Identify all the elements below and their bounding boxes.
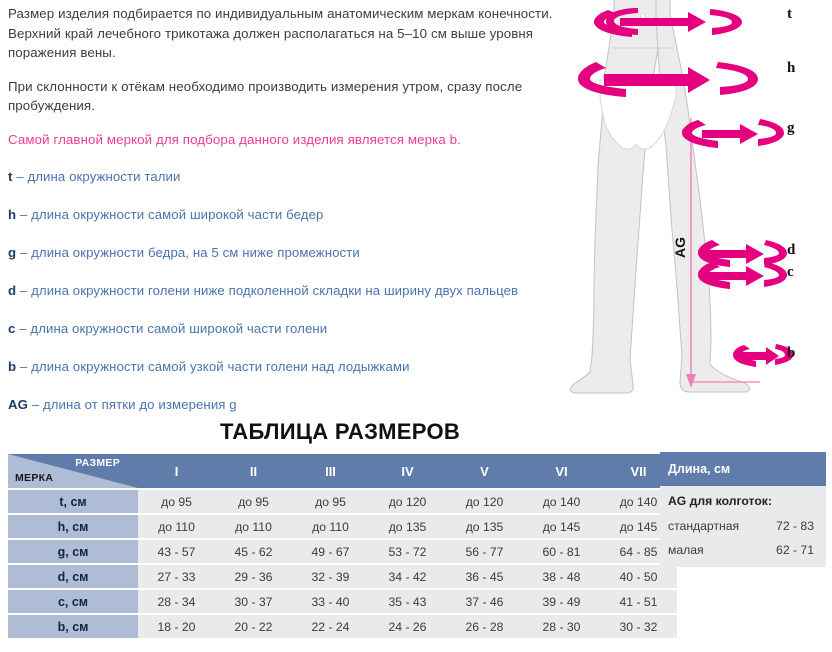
cell-d-1: 27 - 33 <box>138 565 215 588</box>
instructions-column: Размер изделия подбирается по индивидуал… <box>8 4 568 434</box>
table-row: g, см 43 - 57 45 - 62 49 - 67 53 - 72 56… <box>8 540 677 563</box>
cell-g-2: 45 - 62 <box>215 540 292 563</box>
row-label-b: b, см <box>8 615 138 638</box>
definition-g: g – длина окружности бедра, на 5 см ниже… <box>8 244 568 261</box>
cell-t-5: до 120 <box>446 490 523 513</box>
cell-b-7: 30 - 32 <box>600 615 677 638</box>
cell-t-6: до 140 <box>523 490 600 513</box>
length-panel-header: Длина, см <box>660 452 826 486</box>
row-label-h: h, см <box>8 515 138 538</box>
cell-g-1: 43 - 57 <box>138 540 215 563</box>
definition-key-t: t <box>8 169 13 184</box>
cell-c-5: 37 - 46 <box>446 590 523 613</box>
definition-key-g: g <box>8 245 16 260</box>
cell-d-7: 40 - 50 <box>600 565 677 588</box>
column-header-3: III <box>292 454 369 488</box>
length-label-standard: стандартная <box>668 519 739 533</box>
measure-arrow-g <box>682 119 784 148</box>
measure-label-d: d <box>787 242 795 259</box>
length-panel-title: AG для колготок: <box>668 494 818 508</box>
cell-g-3: 49 - 67 <box>292 540 369 563</box>
cell-g-6: 60 - 81 <box>523 540 600 563</box>
cell-h-5: до 135 <box>446 515 523 538</box>
definition-text-g: длина окружности бедра, на 5 см ниже про… <box>31 245 360 260</box>
length-value-small: 62 - 71 <box>776 543 814 557</box>
column-header-6: VI <box>523 454 600 488</box>
table-corner-header: РАЗМЕР МЕРКА <box>8 454 138 488</box>
definition-dash-d: – <box>20 283 27 298</box>
size-table: РАЗМЕР МЕРКА I II III IV V VI VII t, см … <box>8 452 677 640</box>
measure-label-g: g <box>787 120 795 137</box>
cell-b-1: 18 - 20 <box>138 615 215 638</box>
cell-d-4: 34 - 42 <box>369 565 446 588</box>
definition-d: d – длина окружности голени ниже подколе… <box>8 282 568 299</box>
cell-d-6: 38 - 48 <box>523 565 600 588</box>
definition-dash-c: – <box>19 321 26 336</box>
page-title: ТАБЛИЦА РАЗМЕРОВ <box>0 419 680 445</box>
cell-b-6: 28 - 30 <box>523 615 600 638</box>
cell-c-2: 30 - 37 <box>215 590 292 613</box>
ag-vertical-label: AG <box>672 237 688 258</box>
cell-h-2: до 110 <box>215 515 292 538</box>
table-row: d, см 27 - 33 29 - 36 32 - 39 34 - 42 36… <box>8 565 677 588</box>
cell-d-3: 32 - 39 <box>292 565 369 588</box>
definition-key-ag: AG <box>8 397 28 412</box>
table-row: t, см до 95 до 95 до 95 до 120 до 120 до… <box>8 490 677 513</box>
definition-text-ag: длина от пятки до измерения g <box>43 397 237 412</box>
definition-text-t: длина окружности талии <box>27 169 180 184</box>
column-header-5: V <box>446 454 523 488</box>
row-label-t: t, см <box>8 490 138 513</box>
cell-b-2: 20 - 22 <box>215 615 292 638</box>
definition-dash-b: – <box>20 359 27 374</box>
definition-text-d: длина окружности голени ниже подколенной… <box>31 283 518 298</box>
definition-ag: AG – длина от пятки до измерения g <box>8 396 568 413</box>
cell-t-4: до 120 <box>369 490 446 513</box>
intro-paragraph-1: Размер изделия подбирается по индивидуал… <box>8 4 568 63</box>
length-panel-body: AG для колготок: стандартная 72 - 83 мал… <box>660 486 826 567</box>
cell-d-5: 36 - 45 <box>446 565 523 588</box>
cell-t-3: до 95 <box>292 490 369 513</box>
measure-arrow-c <box>698 262 787 289</box>
table-header-row: РАЗМЕР МЕРКА I II III IV V VI VII <box>8 454 677 488</box>
cell-c-1: 28 - 34 <box>138 590 215 613</box>
definition-t: t – длина окружности талии <box>8 168 568 185</box>
table-row: b, см 18 - 20 20 - 22 22 - 24 24 - 26 26… <box>8 615 677 638</box>
measure-label-h: h <box>787 60 795 77</box>
cell-d-2: 29 - 36 <box>215 565 292 588</box>
definition-dash-g: – <box>20 245 27 260</box>
table-row: h, см до 110 до 110 до 110 до 135 до 135… <box>8 515 677 538</box>
definition-text-h: длина окружности самой широкой части бед… <box>31 207 323 222</box>
length-row-standard: стандартная 72 - 83 <box>668 519 818 533</box>
row-label-d: d, см <box>8 565 138 588</box>
definition-h: h – длина окружности самой широкой части… <box>8 206 568 223</box>
definition-dash-t: – <box>16 169 23 184</box>
body-silhouette <box>570 0 749 393</box>
length-value-standard: 72 - 83 <box>776 519 814 533</box>
definition-dash-h: – <box>20 207 27 222</box>
cell-c-4: 35 - 43 <box>369 590 446 613</box>
column-header-2: II <box>215 454 292 488</box>
cell-g-4: 53 - 72 <box>369 540 446 563</box>
corner-row-axis-label: МЕРКА <box>15 472 53 484</box>
measure-label-c: c <box>787 264 794 281</box>
length-row-small: малая 62 - 71 <box>668 543 818 557</box>
measure-label-t: t <box>787 6 792 23</box>
length-label-small: малая <box>668 543 704 557</box>
row-label-c: c, см <box>8 590 138 613</box>
cell-c-6: 39 - 49 <box>523 590 600 613</box>
cell-b-5: 26 - 28 <box>446 615 523 638</box>
column-header-4: IV <box>369 454 446 488</box>
cell-t-1: до 95 <box>138 490 215 513</box>
definition-text-b: длина окружности самой узкой части голен… <box>31 359 409 374</box>
cell-h-6: до 145 <box>523 515 600 538</box>
cell-b-3: 22 - 24 <box>292 615 369 638</box>
definition-b: b – длина окружности самой узкой части г… <box>8 358 568 375</box>
measure-arrow-b <box>733 344 793 367</box>
length-panel: Длина, см AG для колготок: стандартная 7… <box>660 452 826 567</box>
key-measurement-highlight: Самой главной меркой для подбора данного… <box>8 130 568 149</box>
row-label-g: g, см <box>8 540 138 563</box>
anatomical-measurement-diagram: t h g d c b AG <box>560 0 832 405</box>
intro-paragraph-2: При склонности к отёкам необходимо произ… <box>8 77 568 116</box>
definition-dash-ag: – <box>32 397 39 412</box>
definition-key-h: h <box>8 207 16 222</box>
definition-key-b: b <box>8 359 16 374</box>
cell-h-4: до 135 <box>369 515 446 538</box>
measure-label-b: b <box>787 345 795 362</box>
definition-key-c: c <box>8 321 15 336</box>
table-row: c, см 28 - 34 30 - 37 33 - 40 35 - 43 37… <box>8 590 677 613</box>
cell-b-4: 24 - 26 <box>369 615 446 638</box>
cell-c-7: 41 - 51 <box>600 590 677 613</box>
cell-t-2: до 95 <box>215 490 292 513</box>
cell-h-3: до 110 <box>292 515 369 538</box>
cell-c-3: 33 - 40 <box>292 590 369 613</box>
cell-h-1: до 110 <box>138 515 215 538</box>
column-header-1: I <box>138 454 215 488</box>
definition-text-c: длина окружности самой широкой части гол… <box>30 321 327 336</box>
definition-c: c – длина окружности самой широкой части… <box>8 320 568 337</box>
definition-key-d: d <box>8 283 16 298</box>
cell-g-5: 56 - 77 <box>446 540 523 563</box>
corner-col-axis-label: РАЗМЕР <box>75 457 120 469</box>
